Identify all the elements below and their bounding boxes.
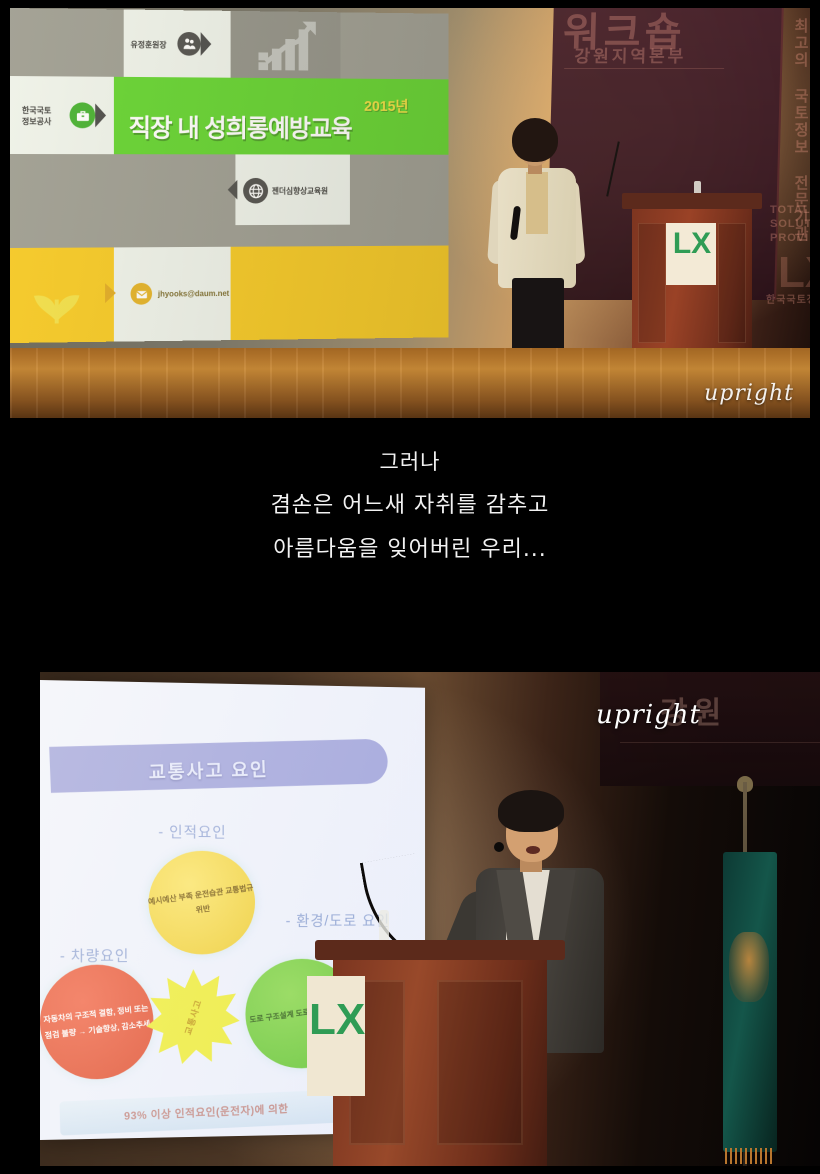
institute-label: 젠더심향상교육원: [272, 187, 328, 196]
institute-arrow-icon: [228, 180, 238, 200]
podium-bottom: LX: [315, 940, 565, 1166]
photo-top: 워크숍 강원지역본부 최고의 국토정보 전문기관 TOTALSOLUTIONPR…: [10, 8, 810, 418]
watermark-top: upright: [704, 381, 794, 406]
presenter-label: 유정훈원장: [131, 40, 167, 49]
briefcase-icon: [70, 102, 96, 128]
email-arrow-icon: [105, 283, 116, 303]
backdrop-subhead: 강원지역본부: [574, 42, 686, 67]
watermark-bottom: upright: [596, 700, 701, 730]
photo-post-page: 워크숍 강원지역본부 최고의 국토정보 전문기관 TOTALSOLUTIONPR…: [0, 0, 820, 1174]
water-bottle-bottom: [379, 910, 389, 942]
podium-top: LX: [622, 193, 762, 368]
caption-block: 그러나 겸손은 어느새 자취를 감추고 아름다움을 잊어버린 우리...: [0, 440, 820, 572]
growth-chart-icon: [257, 19, 320, 74]
email-label: jhyooks@daum.net: [158, 289, 229, 299]
lx-logo-bottom: LX: [309, 998, 365, 1042]
backdrop-divider: [564, 68, 724, 69]
backdrop-tagline: TOTALSOLUTIONPROVIDER: [770, 204, 810, 245]
stage-floor-top: [10, 348, 810, 418]
lx-logo-top: LX: [670, 229, 714, 259]
projection-screen-top: 유정훈원장 한국국토정보공사 2015년 직장 내 성희롱예방교육 젠더심향상교…: [10, 8, 448, 343]
photo-bottom: 강원 교통사고 요인 - 인적요인 - 환경/도로 요인 - 차량요인 예시예산…: [40, 672, 820, 1166]
envelope-icon: [131, 283, 153, 305]
caption-line-3: 아름다움을 잊어버린 우리...: [0, 528, 820, 572]
people-icon: [177, 32, 200, 56]
org-label: 한국국토정보공사: [22, 106, 51, 128]
caption-line-2: 겸손은 어느새 자취를 감추고: [0, 484, 820, 528]
sprout-icon: [28, 269, 85, 325]
globe-icon: [243, 178, 268, 204]
caption-line-1: 그러나: [0, 440, 820, 484]
backdrop-corp-name: 한국국토정보공사: [766, 291, 810, 306]
slide-title: 직장 내 성희롱예방교육: [129, 109, 426, 145]
flag: [695, 782, 815, 1166]
